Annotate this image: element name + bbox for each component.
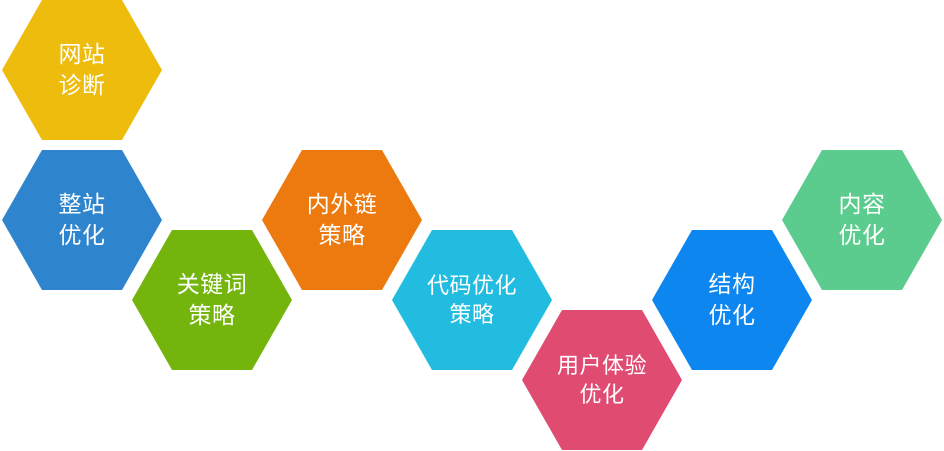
hexagon-label: 内外链 策略 <box>301 189 384 250</box>
hexagon-keyword-strategy[interactable]: 关键词 策略 <box>132 230 292 370</box>
hexagon-label: 代码优化 策略 <box>421 271 523 330</box>
hexagon-label: 结构 优化 <box>703 269 762 330</box>
hexagon-code-optimization-strategy[interactable]: 代码优化 策略 <box>392 230 552 370</box>
hexagon-label: 整站 优化 <box>53 189 112 250</box>
hexagon-content-optimization[interactable]: 内容 优化 <box>782 150 942 290</box>
hexagon-internal-external-link-strategy[interactable]: 内外链 策略 <box>262 150 422 290</box>
hexagon-label: 用户体验 优化 <box>551 351 653 410</box>
hexagon-label: 网站 诊断 <box>53 39 112 100</box>
hexagon-label: 关键词 策略 <box>171 269 254 330</box>
hexagon-user-experience-optimization[interactable]: 用户体验 优化 <box>522 310 682 450</box>
hexagon-diagram-canvas: 网站 诊断整站 优化关键词 策略内外链 策略代码优化 策略用户体验 优化结构 优… <box>0 0 944 451</box>
hexagon-site-diagnosis[interactable]: 网站 诊断 <box>2 0 162 140</box>
hexagon-structure-optimization[interactable]: 结构 优化 <box>652 230 812 370</box>
hexagon-label: 内容 优化 <box>833 189 892 250</box>
hexagon-whole-site-optimization[interactable]: 整站 优化 <box>2 150 162 290</box>
